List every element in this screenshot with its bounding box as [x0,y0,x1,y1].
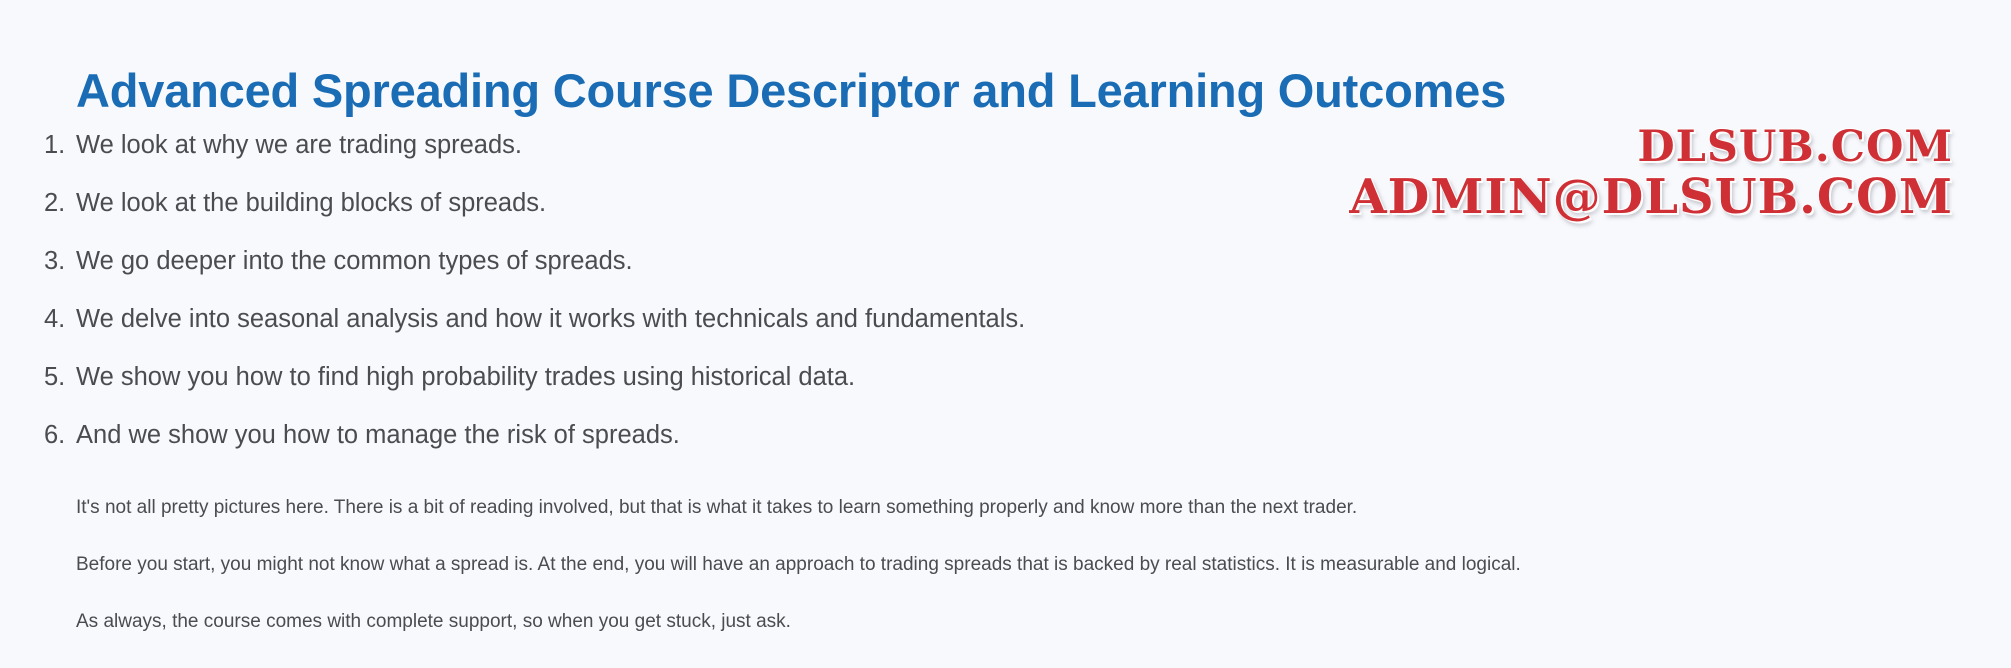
list-item-number: 4. [44,304,76,335]
list-item: 3. We go deeper into the common types of… [44,246,1334,277]
description-paragraphs: It's not all pretty pictures here. There… [76,496,1986,634]
list-item-label: We look at why we are trading spreads. [76,130,522,161]
list-item: 5. We show you how to find high probabil… [44,362,1334,393]
list-item-number: 3. [44,246,76,277]
list-item-label: We delve into seasonal analysis and how … [76,304,1025,335]
list-item: 1. We look at why we are trading spreads… [44,130,1334,161]
paragraph-reading-effort: It's not all pretty pictures here. There… [76,496,1986,520]
document-page: Advanced Spreading Course Descriptor and… [0,0,2011,668]
list-item: 6. And we show you how to manage the ris… [44,420,1334,451]
list-item: 2. We look at the building blocks of spr… [44,188,1334,219]
list-item-number: 1. [44,130,76,161]
watermark: DLSUB.COM ADMIN@DLSUB.COM [1349,126,1953,221]
list-item-number: 2. [44,188,76,219]
list-item: 4. We delve into seasonal analysis and h… [44,304,1334,335]
learning-outcomes-list: 1. We look at why we are trading spreads… [44,130,1334,478]
paragraph-outcome-promise: Before you start, you might not know wha… [76,553,1986,577]
list-item-number: 5. [44,362,76,393]
page-title: Advanced Spreading Course Descriptor and… [76,61,1506,121]
watermark-site: DLSUB.COM [1349,126,1953,169]
list-item-label: We go deeper into the common types of sp… [76,246,633,277]
paragraph-support: As always, the course comes with complet… [76,610,1986,634]
list-item-number: 6. [44,420,76,451]
watermark-email: ADMIN@DLSUB.COM [1349,173,1953,221]
list-item-label: We show you how to find high probability… [76,362,855,393]
list-item-label: We look at the building blocks of spread… [76,188,546,219]
list-item-label: And we show you how to manage the risk o… [76,420,680,451]
